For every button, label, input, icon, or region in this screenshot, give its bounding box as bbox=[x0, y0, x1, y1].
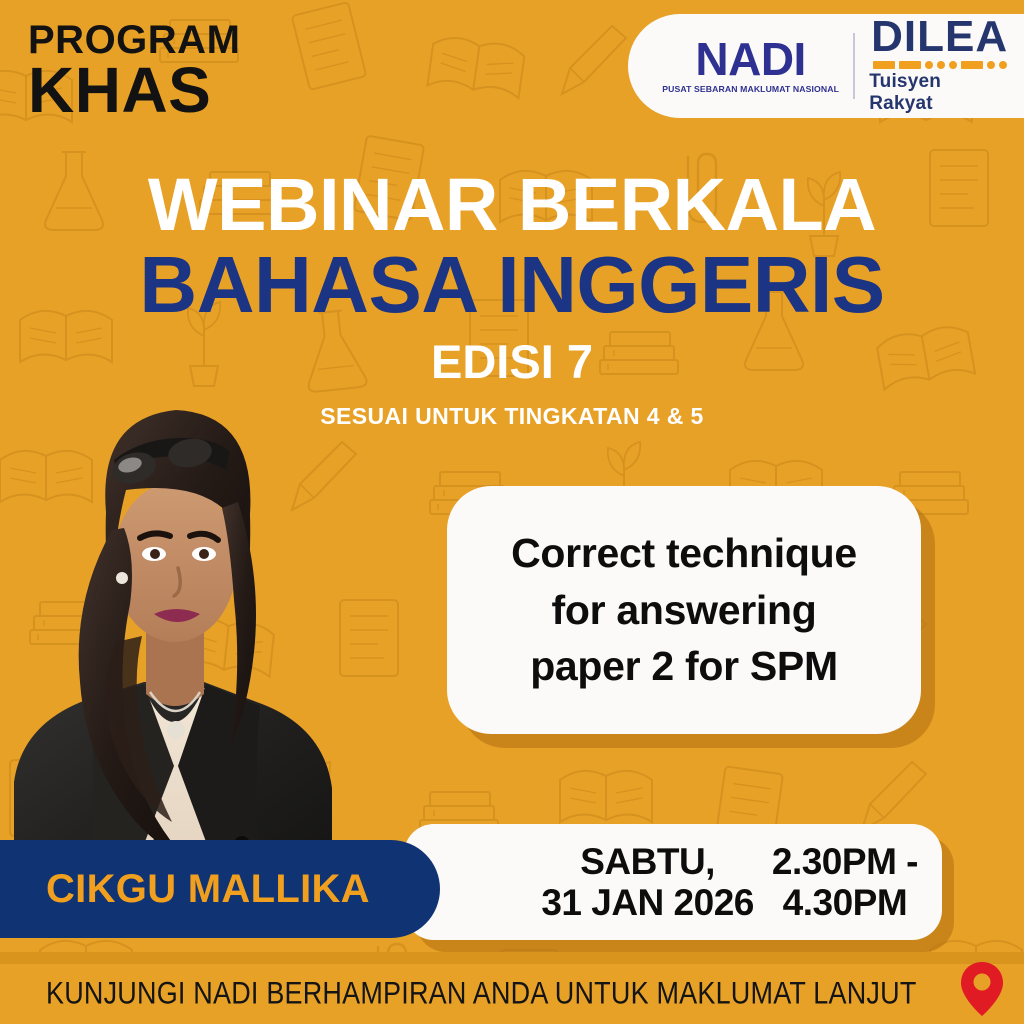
headline-line1: WEBINAR BERKALA bbox=[0, 168, 1024, 242]
dilea-wordmark: DILEA bbox=[871, 17, 1008, 57]
schedule-date-column: SABTU, 31 JAN 2026 bbox=[541, 841, 754, 924]
schedule-card: SABTU, 31 JAN 2026 2.30PM - 4.30PM bbox=[404, 824, 942, 940]
nadi-wordmark: NADI bbox=[695, 38, 805, 82]
location-pin-icon bbox=[958, 960, 1006, 1018]
nadi-subtitle: PUSAT SEBARAN MAKLUMAT NASIONAL bbox=[662, 84, 839, 94]
schedule-date: 31 JAN 2026 bbox=[541, 882, 754, 923]
schedule-time-end: 4.30PM bbox=[772, 882, 918, 923]
schedule-day: SABTU, bbox=[541, 841, 754, 882]
program-tag: PROGRAM KHAS bbox=[28, 22, 240, 120]
dilea-logo: DILEA Tuisyen Rakyat bbox=[869, 17, 1010, 114]
headline-line2: BAHASA INGGERIS bbox=[0, 244, 1024, 326]
logo-divider bbox=[853, 33, 855, 99]
topic-card: Correct technique for answering paper 2 … bbox=[447, 486, 921, 734]
dilea-subtitle: Tuisyen Rakyat bbox=[869, 71, 1010, 115]
footer-call-to-action: KUNJUNGI NADI BERHAMPIRAN ANDA UNTUK MAK… bbox=[46, 975, 917, 1012]
dilea-dash-dot-bar bbox=[873, 61, 1007, 69]
schedule-time-start: 2.30PM - bbox=[772, 841, 918, 882]
topic-line-3: paper 2 for SPM bbox=[530, 638, 838, 695]
poster-canvas: PROGRAM KHAS NADI PUSAT SEBARAN MAKLUMAT… bbox=[0, 0, 1024, 1024]
nadi-logo: NADI PUSAT SEBARAN MAKLUMAT NASIONAL bbox=[664, 38, 837, 94]
topic-line-2: for answering bbox=[552, 582, 817, 639]
speaker-name: CIKGU MALLIKA bbox=[46, 867, 370, 912]
speaker-name-banner: CIKGU MALLIKA bbox=[0, 840, 440, 938]
program-tag-line2: KHAS bbox=[28, 61, 240, 120]
presenter-photo bbox=[0, 352, 354, 912]
logo-lockup: NADI PUSAT SEBARAN MAKLUMAT NASIONAL DIL… bbox=[628, 14, 1024, 118]
schedule-time-column: 2.30PM - 4.30PM bbox=[772, 841, 918, 924]
topic-line-1: Correct technique bbox=[511, 525, 857, 582]
